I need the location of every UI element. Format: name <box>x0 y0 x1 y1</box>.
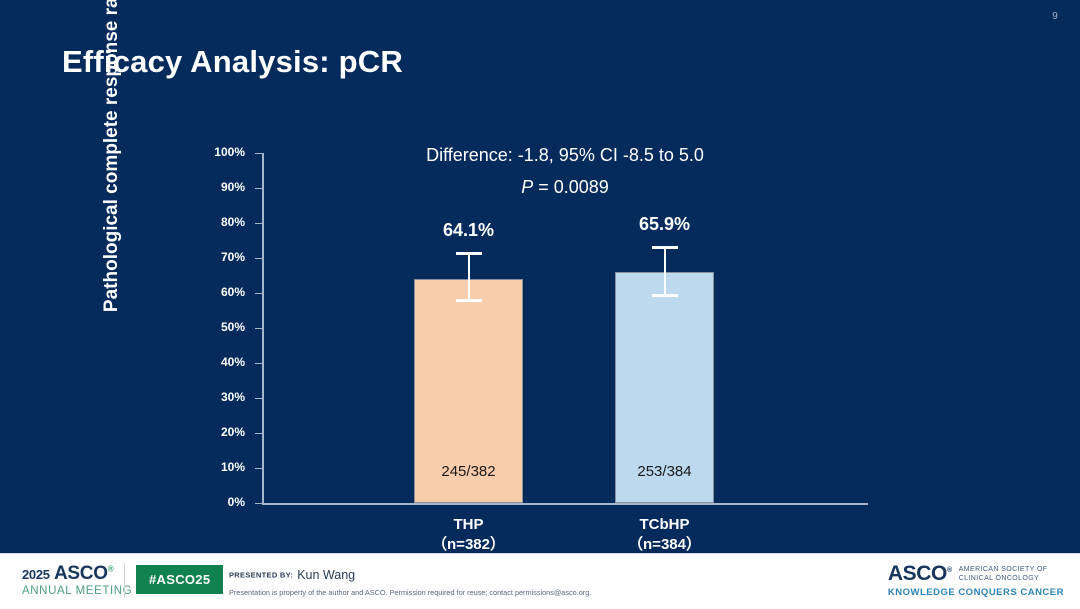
error-bar <box>664 246 666 297</box>
disclaimer-text: Presentation is property of the author a… <box>229 588 591 597</box>
meeting-subtitle: ANNUAL MEETING <box>22 586 132 598</box>
x-axis-line <box>262 503 868 505</box>
y-tick: 20% <box>255 433 262 434</box>
meeting-brand: ASCO <box>54 563 108 584</box>
error-bar-cap-bottom <box>456 299 482 302</box>
error-bar-cap-top <box>652 246 678 249</box>
y-tick-label: 0% <box>228 495 245 509</box>
asco-annual-meeting-logo: 2025 ASCO® ANNUAL MEETING <box>22 564 132 598</box>
error-bar-cap-top <box>456 252 482 255</box>
bar-value-label: 64.1% <box>359 220 579 241</box>
presented-by-label: PRESENTED BY: <box>229 570 293 579</box>
y-tick: 40% <box>255 363 262 364</box>
presenter-name: Kun Wang <box>297 568 355 582</box>
asco-logo: ASCO® AMERICAN SOCIETY OF CLINICAL ONCOL… <box>888 563 1064 598</box>
asco-society-name: AMERICAN SOCIETY OF CLINICAL ONCOLOGY <box>959 565 1048 583</box>
y-tick-label: 40% <box>221 355 245 369</box>
y-tick-label: 50% <box>221 320 245 334</box>
y-tick-label: 60% <box>221 285 245 299</box>
bar-fraction-label: 253/384 <box>555 463 775 480</box>
category-name: TCbHP <box>640 516 690 533</box>
y-tick-label: 90% <box>221 180 245 194</box>
hashtag-badge: #ASCO25 <box>136 565 223 594</box>
y-tick: 0% <box>255 503 262 504</box>
asco-society-line2: CLINICAL ONCOLOGY <box>959 575 1039 582</box>
y-tick: 70% <box>255 258 262 259</box>
footer: 2025 ASCO® ANNUAL MEETING #ASCO25 PRESEN… <box>0 553 1080 609</box>
y-tick: 10% <box>255 468 262 469</box>
meeting-logo-top: 2025 ASCO® <box>22 564 132 583</box>
category-sublabel: （n=382） <box>432 536 505 553</box>
category-name: THP <box>454 516 484 533</box>
category-label: TCbHP（n=384） <box>535 515 795 555</box>
y-tick-label: 10% <box>221 460 245 474</box>
y-tick: 100% <box>255 153 262 154</box>
trademark-icon: ® <box>947 567 952 574</box>
y-tick: 80% <box>255 223 262 224</box>
y-tick-label: 80% <box>221 215 245 229</box>
y-tick-label: 30% <box>221 390 245 404</box>
footer-divider <box>0 553 1080 554</box>
footer-separator <box>124 563 125 597</box>
bar-group: 65.9%253/384TCbHP（n=384） <box>615 153 714 503</box>
y-tick-label: 70% <box>221 250 245 264</box>
category-sublabel: （n=384） <box>628 536 701 553</box>
y-axis-line <box>262 153 264 503</box>
trademark-icon: ® <box>108 565 114 574</box>
y-tick: 60% <box>255 293 262 294</box>
y-tick-label: 20% <box>221 425 245 439</box>
asco-brand: ASCO® <box>888 563 952 584</box>
asco-tagline: KNOWLEDGE CONQUERS CANCER <box>888 587 1064 598</box>
y-axis-title: Pathological complete response rates <box>101 0 123 331</box>
error-bar <box>468 252 470 302</box>
chart: Pathological complete response rates Dif… <box>0 0 1080 560</box>
asco-logo-top: ASCO® AMERICAN SOCIETY OF CLINICAL ONCOL… <box>888 563 1064 584</box>
y-tick: 50% <box>255 328 262 329</box>
y-tick: 30% <box>255 398 262 399</box>
bar-fraction-label: 245/382 <box>359 463 579 480</box>
bar-value-label: 65.9% <box>555 214 775 235</box>
y-tick: 90% <box>255 188 262 189</box>
error-bar-cap-bottom <box>652 294 678 297</box>
meeting-year: 2025 <box>22 567 50 582</box>
plot-area: 100%90%80%70%60%50%40%30%20%10%0% 64.1%2… <box>262 153 868 503</box>
y-tick-label: 100% <box>214 145 245 159</box>
bar-group: 64.1%245/382THP（n=382） <box>414 153 523 503</box>
asco-society-line1: AMERICAN SOCIETY OF <box>959 566 1048 573</box>
presented-by: PRESENTED BY:Kun Wang <box>229 566 355 584</box>
slide: 9 Efficacy Analysis: pCR Pathological co… <box>0 0 1080 609</box>
